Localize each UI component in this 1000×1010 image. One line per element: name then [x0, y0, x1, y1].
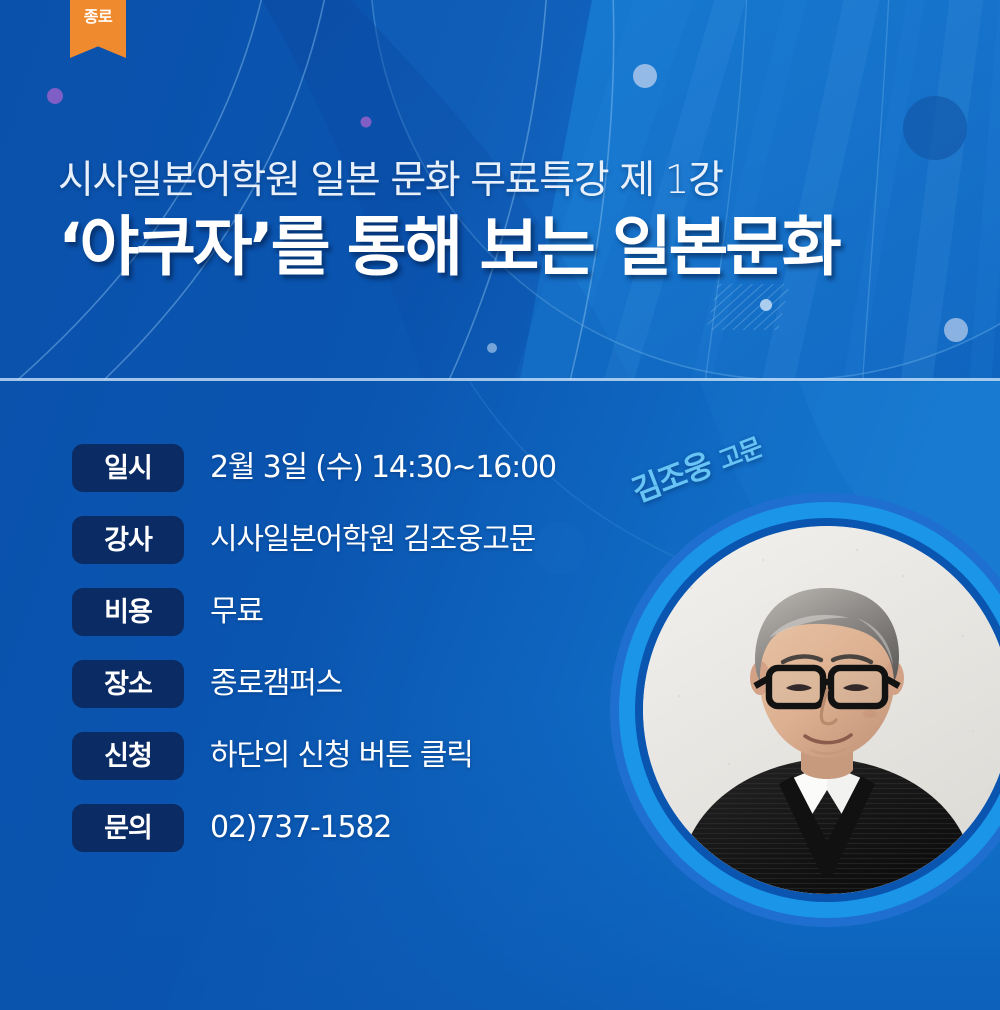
info-chip-date: 일시 — [72, 444, 184, 492]
header-subtitle: 시사일본어학원 일본 문화 무료특강 제 1강 — [58, 158, 958, 205]
info-row-location: 장소 종로캠퍼스 — [72, 660, 556, 708]
info-label-date: 일시 — [104, 455, 152, 482]
info-value-instructor: 시사일본어학원 김조웅고문 — [210, 525, 535, 555]
speaker-photo — [643, 526, 1000, 894]
info-row-fee: 비용 무료 — [72, 588, 556, 636]
info-chip-application: 신청 — [72, 732, 184, 780]
event-info-list: 일시 2월 3일 (수) 14:30~16:00 강사 시사일본어학원 김조웅고… — [72, 444, 556, 852]
info-value-location: 종로캠퍼스 — [210, 669, 342, 699]
speaker-photo-illustration — [643, 526, 1000, 894]
speaker-role: 고문 — [715, 432, 766, 475]
header-title: ‘야쿠자’를 통해 보는 일본문화 — [58, 213, 958, 283]
info-chip-contact: 문의 — [72, 804, 184, 852]
info-label-application: 신청 — [104, 743, 152, 770]
info-chip-location: 장소 — [72, 660, 184, 708]
info-value-fee: 무료 — [210, 597, 263, 627]
info-row-instructor: 강사 시사일본어학원 김조웅고문 — [72, 516, 556, 564]
info-label-contact: 문의 — [104, 815, 152, 842]
info-label-location: 장소 — [104, 671, 152, 698]
promo-poster: 종로 시사일본어학원 일본 문화 무료특강 제 1강 ‘야쿠자’를 통해 보는 … — [0, 0, 1000, 1010]
info-label-fee: 비용 — [104, 599, 152, 626]
info-row-application: 신청 하단의 신청 버튼 클릭 — [72, 732, 556, 780]
campus-ribbon-badge: 종로 — [70, 0, 126, 58]
info-row-date: 일시 2월 3일 (수) 14:30~16:00 — [72, 444, 556, 492]
info-value-application: 하단의 신청 버튼 클릭 — [210, 741, 473, 771]
info-chip-fee: 비용 — [72, 588, 184, 636]
info-row-contact: 문의 02)737-1582 — [72, 804, 556, 852]
info-label-instructor: 강사 — [104, 527, 152, 554]
campus-ribbon-label: 종로 — [84, 9, 112, 25]
portrait-ring-inner — [635, 518, 1000, 902]
info-value-contact: 02)737-1582 — [210, 813, 391, 843]
speaker-portrait — [610, 493, 1000, 927]
info-value-date: 2월 3일 (수) 14:30~16:00 — [210, 453, 556, 483]
section-divider — [0, 378, 1000, 381]
header-block: 시사일본어학원 일본 문화 무료특강 제 1강 ‘야쿠자’를 통해 보는 일본문… — [58, 158, 958, 283]
info-chip-instructor: 강사 — [72, 516, 184, 564]
